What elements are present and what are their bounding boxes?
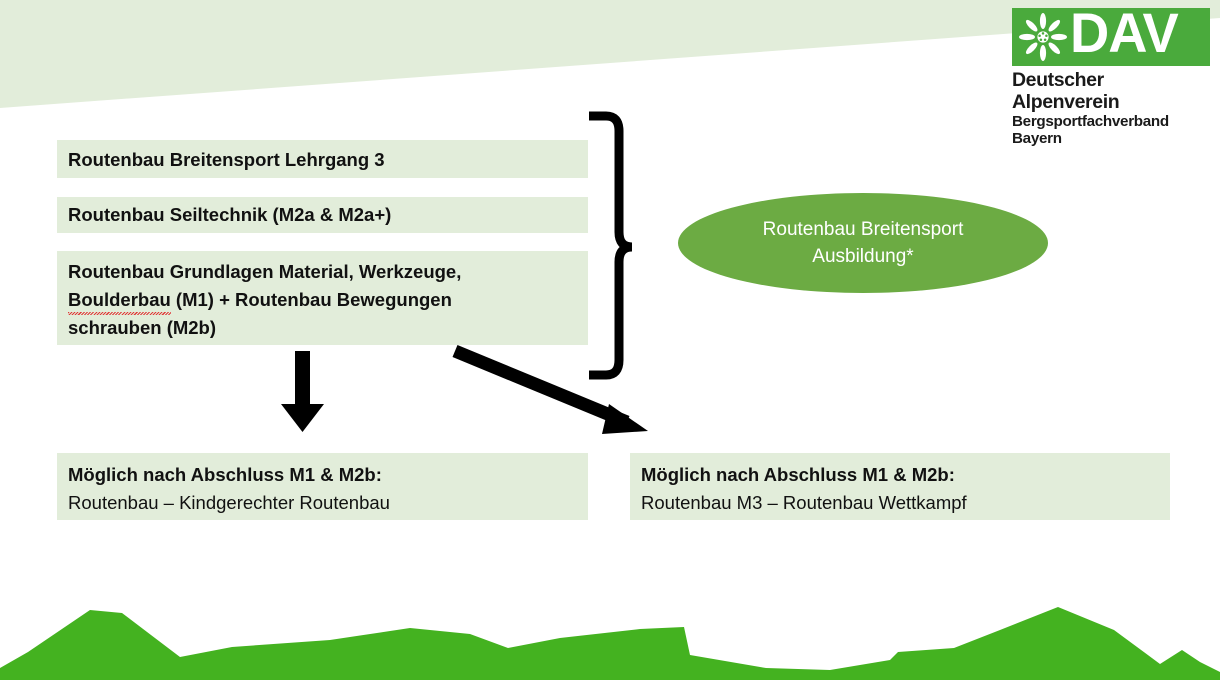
dav-logo-subtitle-1: Deutscher Alpenverein: [1012, 69, 1210, 113]
box-moeglich-routenbau-wettkampf[interactable]: Möglich nach Abschluss M1 & M2b: Routenb…: [630, 453, 1170, 520]
down-arrow: [281, 351, 324, 432]
box-moeglich-kindgerechter-routenbau[interactable]: Möglich nach Abschluss M1 & M2b: Routenb…: [57, 453, 588, 520]
dav-logo-subtitle-2: Bergsportfachverband Bayern: [1012, 113, 1210, 147]
diagonal-down-right-arrow: [455, 351, 648, 434]
box-label-grundlagen: Routenbau Grundlagen Material, Werkzeuge…: [68, 258, 588, 342]
ellipse-label: Routenbau Breitensport Ausbildung*: [763, 216, 964, 270]
box-label-lehrgang3: Routenbau Breitensport Lehrgang 3: [68, 146, 588, 174]
dav-logo-wordmark: DAV: [1070, 8, 1178, 62]
misspelled-word-boulderbau: Boulderbau: [68, 286, 171, 314]
box-label-seiltechnik: Routenbau Seiltechnik (M2a & M2a+): [68, 201, 588, 229]
grundlagen-text-pre: Routenbau Grundlagen Material, Werkzeuge…: [68, 261, 461, 282]
box-routenbau-grundlagen[interactable]: Routenbau Grundlagen Material, Werkzeuge…: [57, 251, 588, 345]
right-curly-brace: [589, 116, 632, 375]
box-label-wettkampf-detail: Routenbau M3 – Routenbau Wettkampf: [641, 489, 1170, 517]
box-label-kinder-detail: Routenbau – Kindgerechter Routenbau: [68, 489, 588, 517]
mountain-silhouette: [0, 607, 1220, 680]
box-routenbau-seiltechnik[interactable]: Routenbau Seiltechnik (M2a & M2a+): [57, 197, 588, 233]
box-routenbau-breitensport-lehrgang-3[interactable]: Routenbau Breitensport Lehrgang 3: [57, 140, 588, 178]
dav-logo-mark: DAV: [1012, 8, 1210, 66]
box-label-wettkampf-heading: Möglich nach Abschluss M1 & M2b:: [641, 461, 1170, 489]
edelweiss-flower-icon: [1019, 13, 1067, 61]
box-label-kinder-heading: Möglich nach Abschluss M1 & M2b:: [68, 461, 588, 489]
ellipse-routenbau-breitensport-ausbildung[interactable]: Routenbau Breitensport Ausbildung*: [678, 193, 1048, 293]
slide-canvas: DAV Deutscher Alpenverein Bergsportfachv…: [0, 0, 1220, 680]
dav-logo: DAV Deutscher Alpenverein Bergsportfachv…: [1012, 8, 1210, 106]
